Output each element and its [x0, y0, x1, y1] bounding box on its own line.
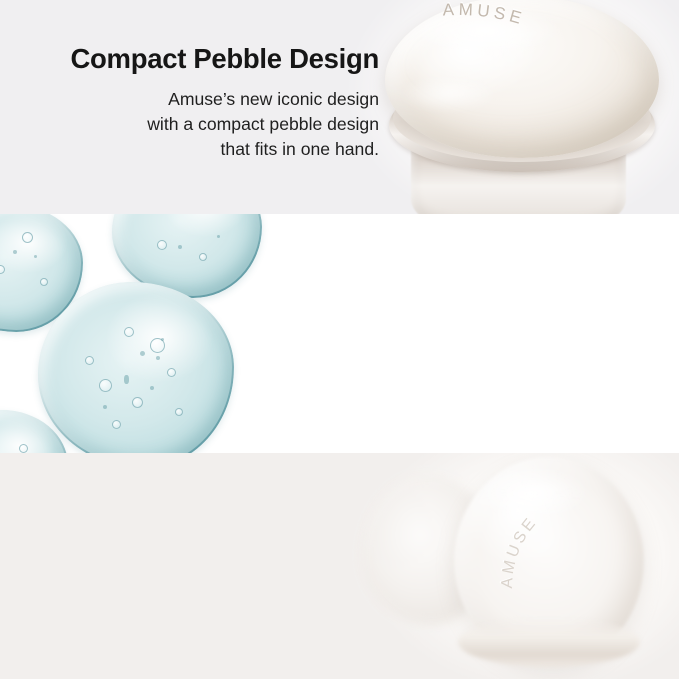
- product-compact-image: AMUSE AMUSE: [359, 0, 679, 214]
- panel-24hours-long-lasting: AMUSE AMUSE 24hours Long-lasting The new…: [0, 453, 679, 679]
- panel1-body-line-1: Amuse’s new iconic design: [0, 87, 379, 112]
- gel-droplet-main: [38, 282, 234, 453]
- panel-semi-matte: Semi-matte, But never heavy or cakey 76%…: [0, 214, 679, 453]
- product-feature-image: AMUSE AMUSE Compact Pebble Design Amuse’…: [0, 0, 679, 679]
- panel1-body: Amuse’s new iconic design with a compact…: [0, 87, 379, 162]
- gel-droplets-image: [0, 214, 250, 453]
- panel1-text-block: Compact Pebble Design Amuse’s new iconic…: [0, 44, 379, 162]
- panel-compact-pebble-design: AMUSE AMUSE Compact Pebble Design Amuse’…: [0, 0, 679, 214]
- pebble-bottom-rim: [458, 617, 640, 667]
- panel1-body-line-3: that fits in one hand.: [0, 137, 379, 162]
- panel1-body-line-2: with a compact pebble design: [0, 112, 379, 137]
- compact-lid-highlight-secondary: [399, 74, 509, 114]
- product-pebble-blurred-image: AMUSE AMUSE: [396, 453, 679, 679]
- panel1-heading: Compact Pebble Design: [0, 44, 379, 75]
